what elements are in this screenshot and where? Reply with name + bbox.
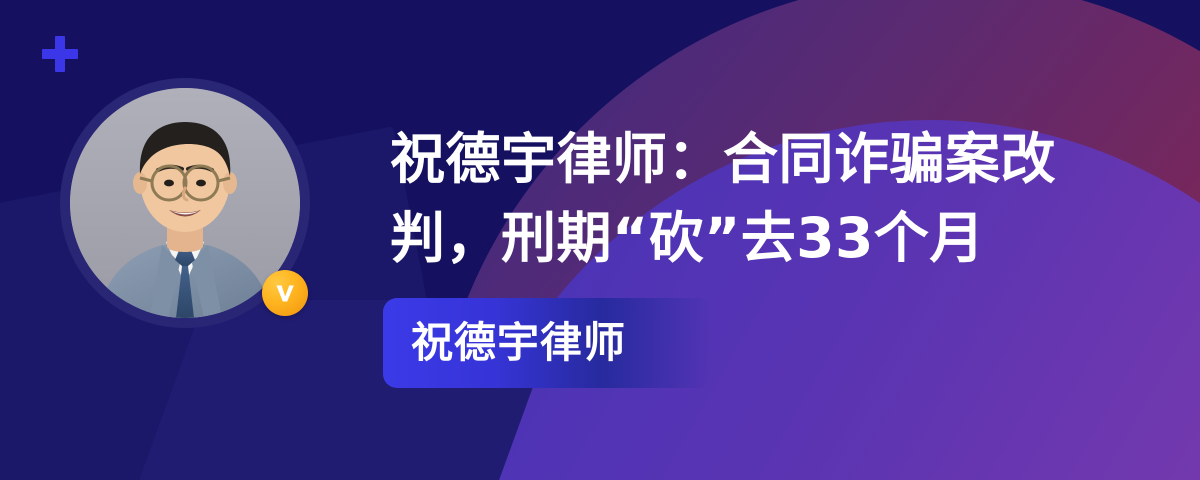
promo-banner: 祝德宇律师：合同诈骗案改判，刑期“砍”去33个月 祝德宇律师 xyxy=(0,0,1200,480)
headline-block: 祝德宇律师：合同诈骗案改判，刑期“砍”去33个月 xyxy=(390,120,1120,278)
avatar[interactable] xyxy=(60,78,310,328)
verified-badge xyxy=(262,270,308,316)
author-name: 祝德宇律师 xyxy=(411,322,626,364)
plus-icon xyxy=(42,36,78,72)
author-badge[interactable]: 祝德宇律师 xyxy=(383,298,713,388)
page-title: 祝德宇律师：合同诈骗案改判，刑期“砍”去33个月 xyxy=(390,120,1120,278)
